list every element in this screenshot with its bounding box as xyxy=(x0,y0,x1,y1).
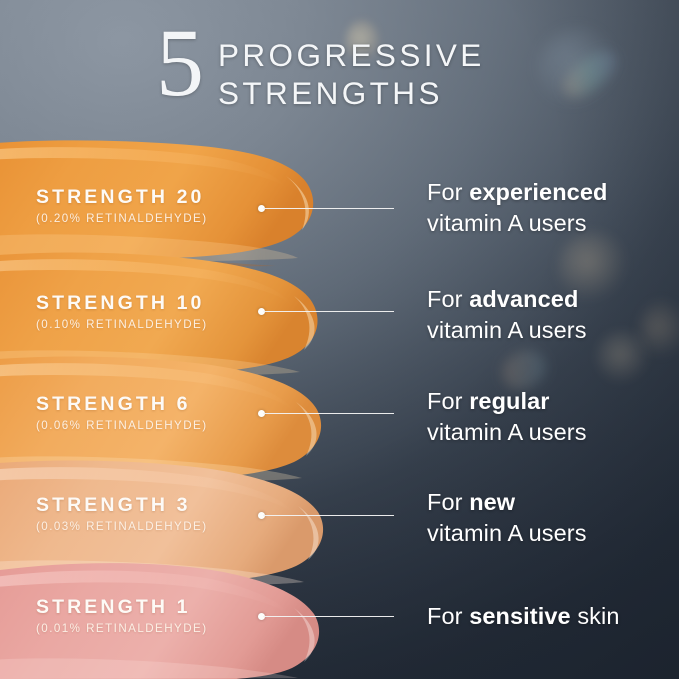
description-strength-20: For experienced vitamin A users xyxy=(427,177,607,240)
description-emphasis: experienced xyxy=(469,179,607,205)
description-emphasis: regular xyxy=(469,388,549,414)
description-emphasis: advanced xyxy=(469,286,578,312)
description-strength-10: For advanced vitamin A users xyxy=(427,284,587,347)
description-prefix: For xyxy=(427,603,469,629)
description-line-2: vitamin A users xyxy=(427,315,587,346)
description-prefix: For xyxy=(427,179,469,205)
infographic-stage: 5 PROGRESSIVE STRENGTHS STRENGTH 20 (0.2… xyxy=(0,0,679,679)
description-strength-1: For sensitive skin xyxy=(427,601,620,632)
description-line-2: vitamin A users xyxy=(427,208,607,239)
description-prefix: For xyxy=(427,388,469,414)
description-line-2: vitamin A users xyxy=(427,518,587,549)
title-numeral: 5 xyxy=(156,22,202,105)
description-strength-3: For new vitamin A users xyxy=(427,487,587,550)
description-emphasis: sensitive xyxy=(469,603,571,629)
description-line-2: vitamin A users xyxy=(427,417,587,448)
swatch-strength-1 xyxy=(0,556,346,679)
title-text: PROGRESSIVE STRENGTHS xyxy=(218,36,485,113)
description-prefix: For xyxy=(427,489,469,515)
description-strength-6: For regular vitamin A users xyxy=(427,386,587,449)
page-title: 5 PROGRESSIVE STRENGTHS xyxy=(156,28,485,113)
description-suffix: skin xyxy=(571,603,620,629)
description-emphasis: new xyxy=(469,489,515,515)
description-prefix: For xyxy=(427,286,469,312)
